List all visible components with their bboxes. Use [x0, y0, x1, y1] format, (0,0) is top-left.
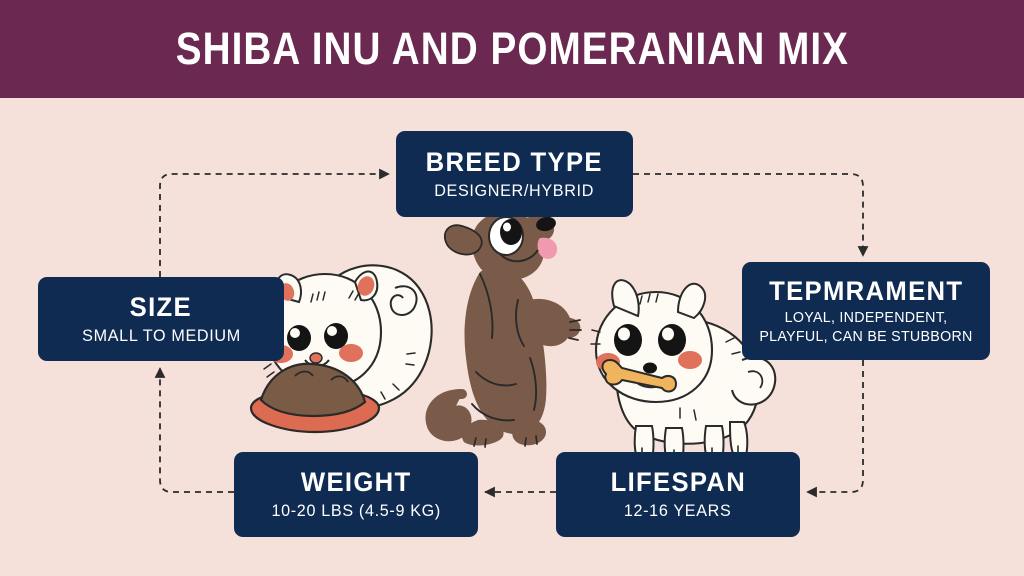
connector-temperament-to-lifespan — [807, 360, 863, 492]
size-title: SIZE — [130, 292, 192, 322]
lifespan-title: LIFESPAN — [610, 467, 746, 497]
weight-title: WEIGHT — [301, 467, 412, 497]
info-box-temperament[interactable]: TEPMRAMENT LOYAL, INDEPENDENT, PLAYFUL, … — [742, 262, 990, 360]
info-box-size[interactable]: SIZE SMALL TO MEDIUM — [38, 277, 284, 361]
infographic-canvas: SHIBA INU AND POMERANIAN MIX — [0, 0, 1024, 576]
info-box-lifespan[interactable]: LIFESPAN 12-16 YEARS — [556, 452, 800, 537]
info-box-breed-type[interactable]: BREED TYPE DESIGNER/HYBRID — [396, 131, 633, 217]
breed-type-title: BREED TYPE — [426, 147, 603, 177]
weight-value: 10-20 LBS (4.5-9 KG) — [271, 500, 441, 521]
connector-weight-to-size — [160, 368, 234, 492]
size-value: SMALL TO MEDIUM — [82, 325, 241, 346]
temperament-value: LOYAL, INDEPENDENT, PLAYFUL, CAN BE STUB… — [748, 309, 984, 347]
lifespan-value: 12-16 YEARS — [624, 500, 732, 521]
connector-breed-type-to-temperament — [633, 174, 863, 256]
breed-type-value: DESIGNER/HYBRID — [435, 180, 595, 201]
temperament-title: TEPMRAMENT — [769, 276, 963, 306]
info-box-weight[interactable]: WEIGHT 10-20 LBS (4.5-9 KG) — [234, 452, 478, 537]
